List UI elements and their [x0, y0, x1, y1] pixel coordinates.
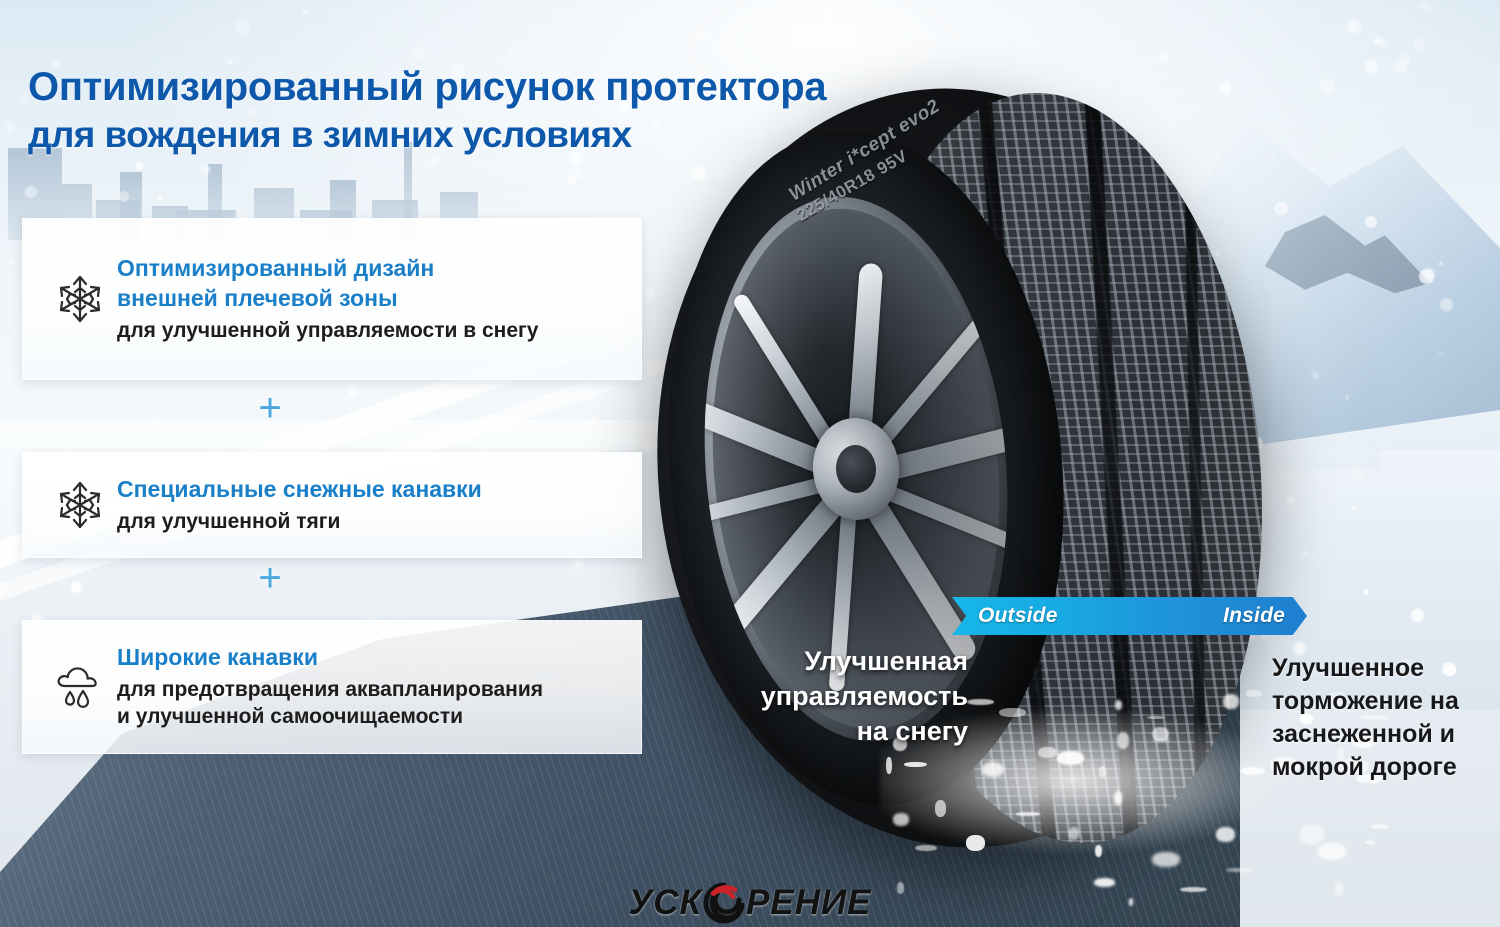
snow-chunk	[886, 757, 892, 774]
page-title-line-1: Оптимизированный рисунок протектора	[28, 65, 826, 109]
snowflake-particle	[1320, 79, 1334, 93]
snow-chunk	[967, 699, 993, 705]
snowflake-icon	[43, 273, 117, 325]
spiral-o-logo-icon	[703, 882, 745, 924]
snowflake-particle	[1440, 298, 1453, 311]
snowflake-particle	[6, 123, 15, 132]
snow-chunk	[999, 708, 1026, 717]
snow-chunk	[1117, 732, 1129, 749]
snow-chunk	[1371, 824, 1389, 830]
snow-chunk	[1152, 852, 1179, 867]
snowflake-particle	[1439, 261, 1444, 266]
snowflake-particle	[1424, 268, 1435, 279]
snowflake-particle	[9, 260, 13, 264]
snow-chunk	[915, 845, 937, 852]
snowflake-particle	[1413, 38, 1426, 51]
callout-handling: Улучшенная управляемость на снегу	[700, 644, 968, 749]
snowflake-particle	[1158, 53, 1167, 62]
snow-chunk	[935, 800, 946, 817]
snowflake-particle	[20, 94, 27, 101]
logo-text-after: РЕНИЕ	[746, 883, 871, 923]
feature-card-3[interactable]: Широкие канавки для предотвращения аквап…	[22, 620, 642, 754]
feature-card-1-text: Оптимизированный дизайн внешней плечевой…	[117, 254, 627, 344]
page-title-line-2: для вождения в зимних условиях	[28, 112, 826, 157]
direction-banner: Outside Inside	[952, 597, 1307, 635]
feature-card-2[interactable]: Специальные снежные канавки для улучшенн…	[22, 452, 642, 558]
snowflake-particle	[1323, 127, 1325, 129]
brand-logo[interactable]: УСК РЕНИЕ	[0, 878, 1500, 927]
feature-card-2-text: Специальные снежные канавки для улучшенн…	[117, 475, 627, 535]
feature-card-3-text: Широкие канавки для предотвращения аквап…	[117, 643, 627, 730]
feature-card-1-subtext: для улучшенной управляемости в снегу	[117, 317, 627, 344]
snow-chunk	[1152, 727, 1169, 741]
separator-plus-2: +	[253, 562, 287, 596]
snow-chunk	[1246, 690, 1262, 696]
outside-label: Outside	[978, 604, 1058, 628]
snow-chunk	[1057, 751, 1084, 764]
feature-card-1[interactable]: Оптимизированный дизайн внешней плечевой…	[22, 218, 642, 380]
feature-card-3-subtext: для предотвращения аквапланирования и ул…	[117, 676, 627, 731]
snow-chunk	[1095, 845, 1101, 857]
page-title: Оптимизированный рисунок протектора для …	[28, 14, 826, 206]
snow-chunk	[904, 762, 927, 767]
snow-chunk	[1241, 767, 1266, 775]
separator-plus-1: +	[253, 392, 287, 426]
feature-card-2-heading: Специальные снежные канавки	[117, 475, 627, 505]
snow-chunk	[893, 813, 909, 825]
rain-cloud-icon	[43, 659, 117, 715]
snowflake-particle	[1347, 20, 1361, 34]
inside-label: Inside	[1223, 604, 1285, 628]
snowflake-particle	[1394, 61, 1407, 74]
snowflake-particle	[1261, 13, 1263, 15]
snow-chunk	[1216, 827, 1235, 842]
snow-chunk	[1115, 700, 1123, 710]
snow-chunk	[1223, 694, 1239, 709]
feature-card-2-subtext: для улучшенной тяги	[117, 508, 627, 535]
snow-chunk	[982, 762, 1004, 777]
snow-chunk	[1147, 716, 1164, 720]
snow-chunk	[1099, 766, 1105, 777]
snow-chunk	[1016, 812, 1039, 816]
snowflake-icon	[43, 479, 117, 531]
snow-chunk	[1069, 827, 1078, 839]
logo-text-before: УСК	[629, 883, 703, 923]
snow-chunk	[1300, 825, 1324, 843]
snow-chunk	[1226, 868, 1254, 872]
snow-chunk	[1038, 747, 1057, 758]
snow-chunk	[966, 835, 985, 850]
feature-card-1-heading: Оптимизированный дизайн внешней плечевой…	[117, 254, 627, 314]
snowflake-particle	[1365, 216, 1377, 228]
snow-chunk	[1365, 841, 1375, 844]
snowflake-particle	[1439, 353, 1441, 355]
snowflake-particle	[1365, 59, 1378, 72]
snow-chunk	[1318, 843, 1346, 859]
snowflake-particle	[1420, 2, 1430, 12]
infographic-canvas: Winter i*cept evo2 225/40R18 95V Оптимиз…	[0, 0, 1500, 927]
callout-braking: Улучшенное торможение на заснеженной и м…	[1272, 652, 1494, 784]
snowflake-particle	[1374, 37, 1382, 45]
feature-card-3-heading: Широкие канавки	[117, 643, 627, 673]
snow-chunk	[1114, 791, 1122, 805]
